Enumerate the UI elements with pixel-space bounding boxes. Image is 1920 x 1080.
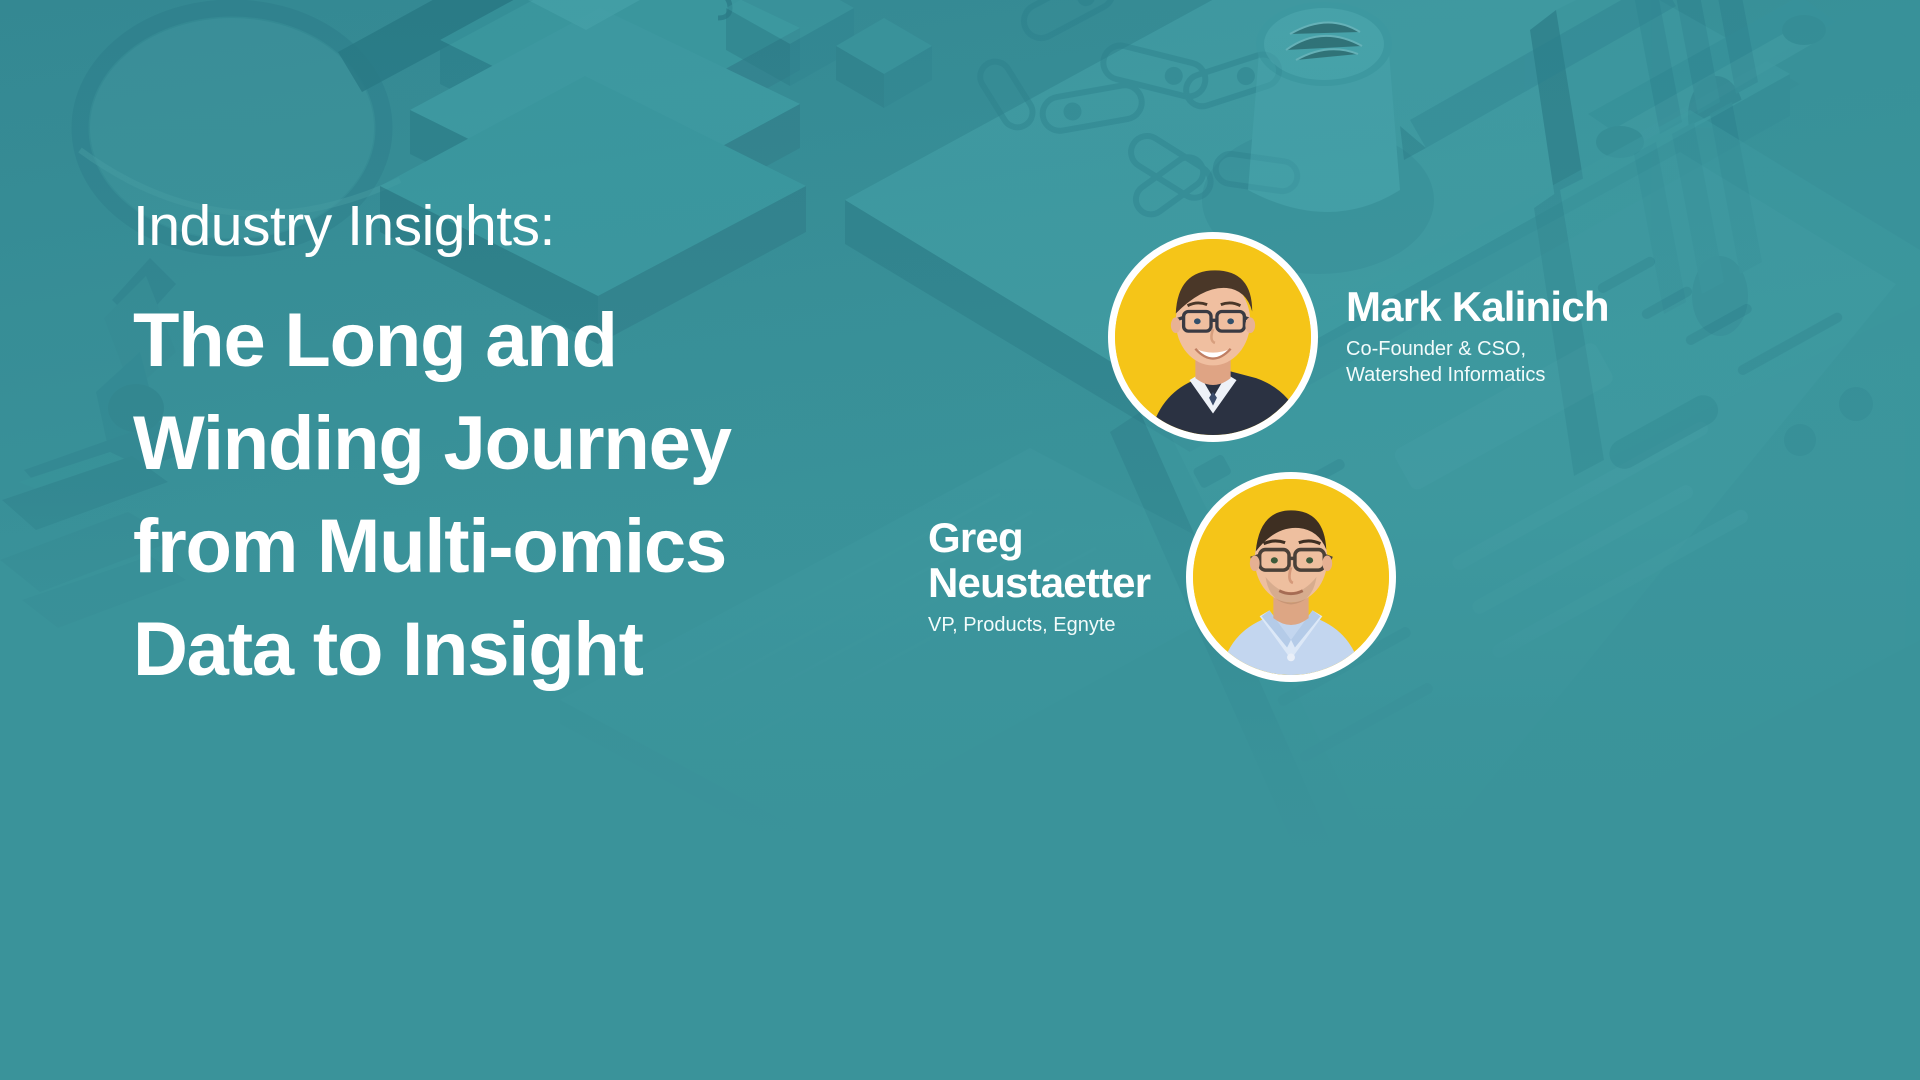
speaker-card-mark-kalinich: Mark Kalinich Co-Founder & CSO, Watershe… — [1108, 232, 1609, 442]
eyebrow-label: Industry Insights: — [133, 198, 1013, 255]
speaker-name-line-1: Greg — [928, 516, 1150, 561]
title-line-2: Winding Journey — [133, 392, 1013, 495]
speaker-name-line-2: Neustaetter — [928, 561, 1150, 606]
speaker-role: Co-Founder & CSO, Watershed Informatics — [1346, 337, 1609, 388]
title-line-4: Data to Insight — [133, 598, 1013, 701]
speaker-info-mark-kalinich: Mark Kalinich Co-Founder & CSO, Watershe… — [1346, 285, 1609, 388]
speaker-role: VP, Products, Egnyte — [928, 613, 1150, 639]
speaker-info-greg-neustaetter: Greg Neustaetter VP, Products, Egnyte — [928, 516, 1150, 638]
title-line-3: from Multi-omics — [133, 495, 1013, 598]
speaker-role-line-1: VP, Products, Egnyte — [928, 613, 1150, 639]
title-block: Industry Insights: The Long and Winding … — [133, 198, 1013, 701]
avatar-mark-kalinich — [1108, 232, 1318, 442]
title-line-1: The Long and — [133, 289, 1013, 392]
speaker-name: Greg Neustaetter — [928, 516, 1150, 606]
webinar-promo-banner: Industry Insights: The Long and Winding … — [0, 0, 1920, 1080]
avatar-greg-neustaetter — [1186, 472, 1396, 682]
speaker-card-greg-neustaetter: Greg Neustaetter VP, Products, Egnyte — [928, 472, 1396, 682]
speaker-role-line-2: Watershed Informatics — [1346, 363, 1609, 389]
page-title: The Long and Winding Journey from Multi-… — [133, 289, 1013, 701]
speaker-role-line-1: Co-Founder & CSO, — [1346, 337, 1609, 363]
speaker-name: Mark Kalinich — [1346, 285, 1609, 330]
